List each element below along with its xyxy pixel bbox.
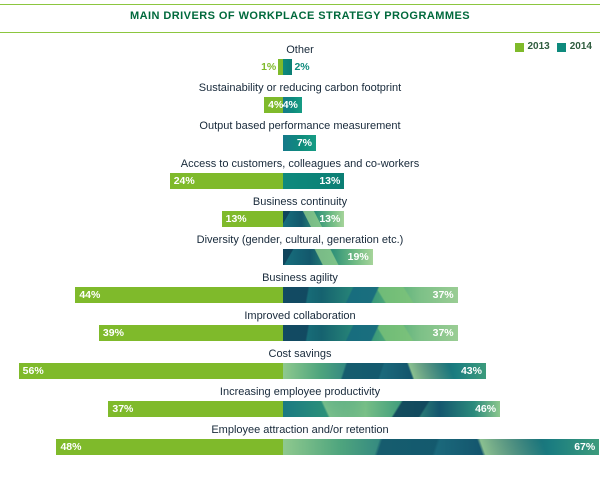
bar-2013[interactable]: 4% <box>264 97 283 113</box>
bar-group: 37%46% <box>0 401 600 418</box>
bar-group: 56%43% <box>0 363 600 380</box>
category-label: Improved collaboration <box>0 308 600 325</box>
bar-2014[interactable]: 37% <box>283 287 458 303</box>
bar-2014[interactable]: 37% <box>283 325 458 341</box>
chart-row: Employee attraction and/or retention48%6… <box>0 422 600 460</box>
header-rule-bottom <box>0 32 600 33</box>
bar-2014[interactable] <box>283 59 292 75</box>
bar-value-2013: 1% <box>261 59 276 75</box>
bar-value-2014: 13% <box>315 176 344 187</box>
bar-texture-fill <box>283 401 500 417</box>
bar-value-2014: 7% <box>293 138 316 149</box>
bar-group: 7% <box>0 135 600 152</box>
bar-2014[interactable]: 43% <box>283 363 486 379</box>
bar-value-2013: 56% <box>19 366 48 377</box>
bar-2013[interactable]: 13% <box>222 211 283 227</box>
bar-group: 13%13% <box>0 211 600 228</box>
chart-plot-area: Other1%2%Sustainability or reducing carb… <box>0 38 600 480</box>
category-label: Other <box>0 42 600 59</box>
bar-2013[interactable]: 37% <box>108 401 283 417</box>
chart-row: Cost savings56%43% <box>0 346 600 384</box>
bar-value-2013: 4% <box>264 100 283 111</box>
category-label: Diversity (gender, cultural, generation … <box>0 232 600 249</box>
category-label: Cost savings <box>0 346 600 363</box>
bar-value-2013: 37% <box>108 404 137 415</box>
chart-row: Other1%2% <box>0 42 600 80</box>
bar-2014[interactable]: 13% <box>283 211 344 227</box>
header-rule-top <box>0 4 600 5</box>
bar-group: 48%67% <box>0 439 600 456</box>
bar-group: 4%4% <box>0 97 600 114</box>
category-label: Employee attraction and/or retention <box>0 422 600 439</box>
chart-header: MAIN DRIVERS OF WORKPLACE STRATEGY PROGR… <box>0 0 600 33</box>
page-title: MAIN DRIVERS OF WORKPLACE STRATEGY PROGR… <box>0 10 600 22</box>
bar-2013[interactable]: 44% <box>75 287 283 303</box>
bar-2014[interactable]: 19% <box>283 249 373 265</box>
bar-value-2014: 2% <box>294 59 309 75</box>
bar-value-2014: 13% <box>315 214 344 225</box>
bar-texture-fill <box>283 363 486 379</box>
bar-value-2014: 37% <box>429 328 458 339</box>
category-label: Business continuity <box>0 194 600 211</box>
bar-value-2013: 44% <box>75 290 104 301</box>
chart-row: Access to customers, colleagues and co-w… <box>0 156 600 194</box>
bar-value-2014: 67% <box>570 442 599 453</box>
bar-2013[interactable]: 24% <box>170 173 283 189</box>
bar-value-2014: 19% <box>344 252 373 263</box>
chart-row: Diversity (gender, cultural, generation … <box>0 232 600 270</box>
chart-row: Business continuity13%13% <box>0 194 600 232</box>
chart-row: Increasing employee productivity37%46% <box>0 384 600 422</box>
chart-row: Improved collaboration39%37% <box>0 308 600 346</box>
bar-2014[interactable]: 46% <box>283 401 500 417</box>
bar-value-2014: 37% <box>429 290 458 301</box>
bar-value-2014: 43% <box>457 366 486 377</box>
bar-group: 44%37% <box>0 287 600 304</box>
chart-row: Output based performance measurement7% <box>0 118 600 156</box>
category-label: Access to customers, colleagues and co-w… <box>0 156 600 173</box>
category-label: Increasing employee productivity <box>0 384 600 401</box>
bar-group: 24%13% <box>0 173 600 190</box>
bar-group: 19% <box>0 249 600 266</box>
bar-2014[interactable]: 4% <box>283 97 302 113</box>
bar-value-2013: 48% <box>56 442 85 453</box>
bar-2013[interactable]: 48% <box>56 439 283 455</box>
bar-2014[interactable]: 67% <box>283 439 599 455</box>
bar-2013[interactable]: 39% <box>99 325 283 341</box>
bar-group: 39%37% <box>0 325 600 342</box>
category-label: Output based performance measurement <box>0 118 600 135</box>
bar-value-2013: 39% <box>99 328 128 339</box>
bar-texture-fill <box>283 59 292 75</box>
bar-value-2013: 13% <box>222 214 251 225</box>
bar-2014[interactable]: 13% <box>283 173 344 189</box>
bar-value-2014: 46% <box>471 404 500 415</box>
bar-2014[interactable]: 7% <box>283 135 316 151</box>
bar-value-2014: 4% <box>283 100 302 111</box>
bar-2013[interactable]: 56% <box>19 363 283 379</box>
category-label: Sustainability or reducing carbon footpr… <box>0 80 600 97</box>
bar-value-2013: 24% <box>170 176 199 187</box>
chart-root: MAIN DRIVERS OF WORKPLACE STRATEGY PROGR… <box>0 0 600 480</box>
chart-row: Sustainability or reducing carbon footpr… <box>0 80 600 118</box>
bar-group: 1%2% <box>0 59 600 76</box>
bar-texture-fill <box>283 439 599 455</box>
chart-row: Business agility44%37% <box>0 270 600 308</box>
category-label: Business agility <box>0 270 600 287</box>
